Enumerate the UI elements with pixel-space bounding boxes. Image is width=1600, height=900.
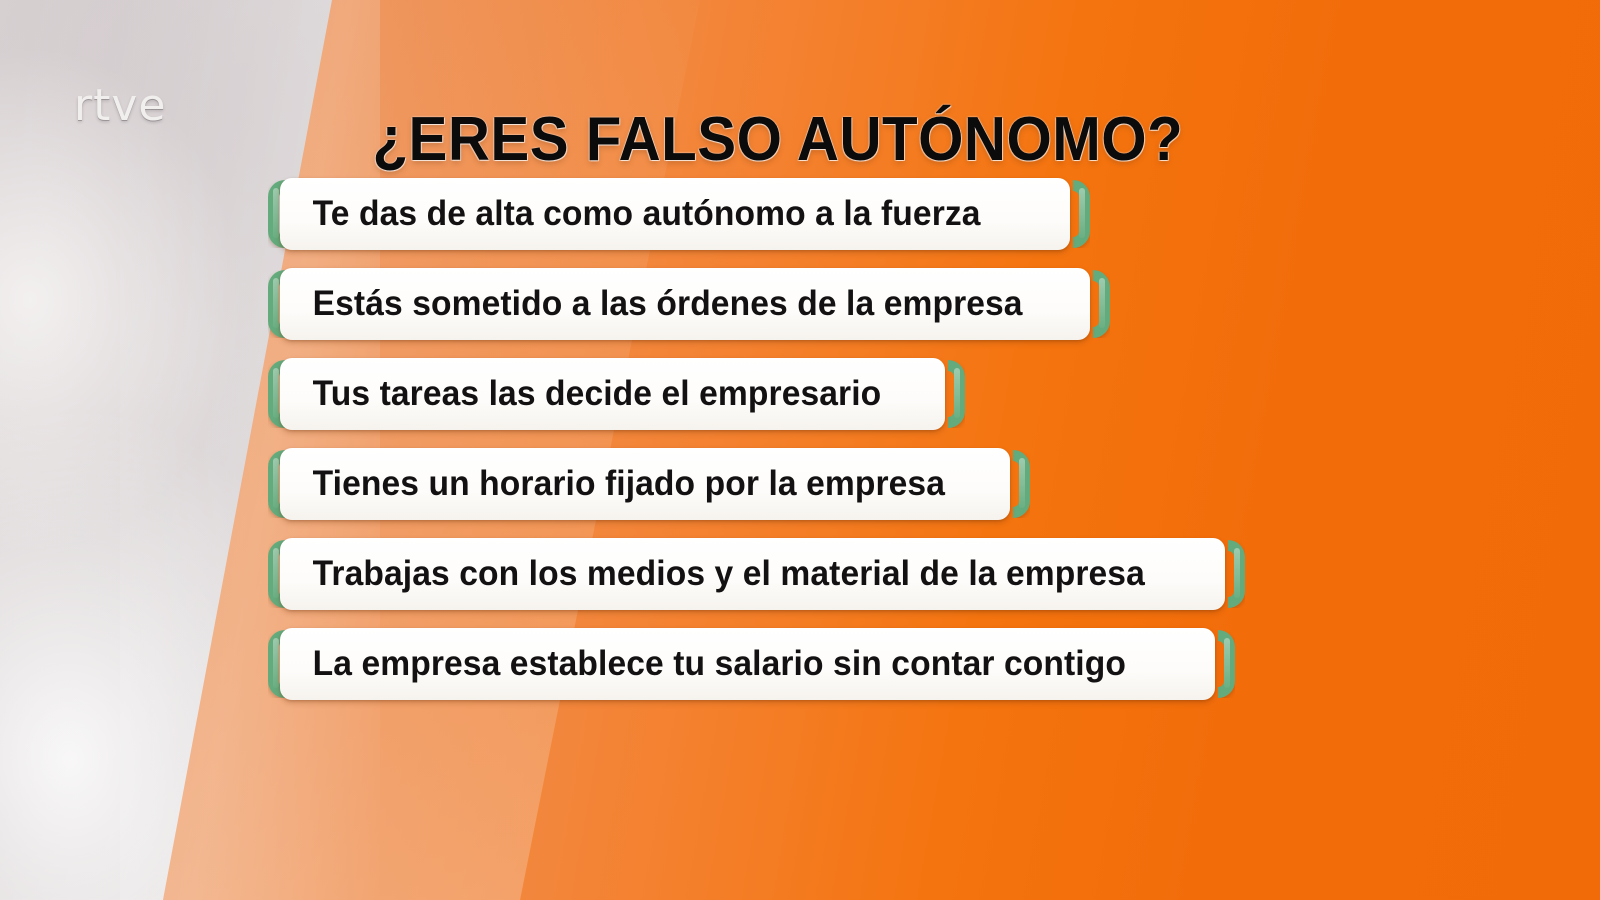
criteria-card: Estás sometido a las órdenes de la empre… [280,268,1090,340]
rtve-logo: rtve [74,80,166,131]
criteria-card: Trabajas con los medios y el material de… [280,538,1225,610]
criteria-card-label: Estás sometido a las órdenes de la empre… [280,284,1048,324]
criteria-card: La empresa establece tu salario sin cont… [280,628,1215,700]
criteria-card: Tus tareas las decide el empresario [280,358,945,430]
criteria-card-label: La empresa establece tu salario sin cont… [280,644,1151,684]
criteria-card-label: Trabajas con los medios y el material de… [280,554,1170,594]
criteria-card-label: Tus tareas las decide el empresario [280,374,906,414]
criteria-card: Tienes un horario fijado por la empresa [280,448,1010,520]
broadcast-graphic-screen: rtve ¿ERES FALSO AUTÓNOMO? Te das de alt… [0,0,1600,900]
page-title: ¿ERES FALSO AUTÓNOMO? [336,104,1220,175]
criteria-card-label: Tienes un horario fijado por la empresa [280,464,970,504]
criteria-card: Te das de alta como autónomo a la fuerza [280,178,1070,250]
criteria-card-label: Te das de alta como autónomo a la fuerza [280,194,1006,234]
